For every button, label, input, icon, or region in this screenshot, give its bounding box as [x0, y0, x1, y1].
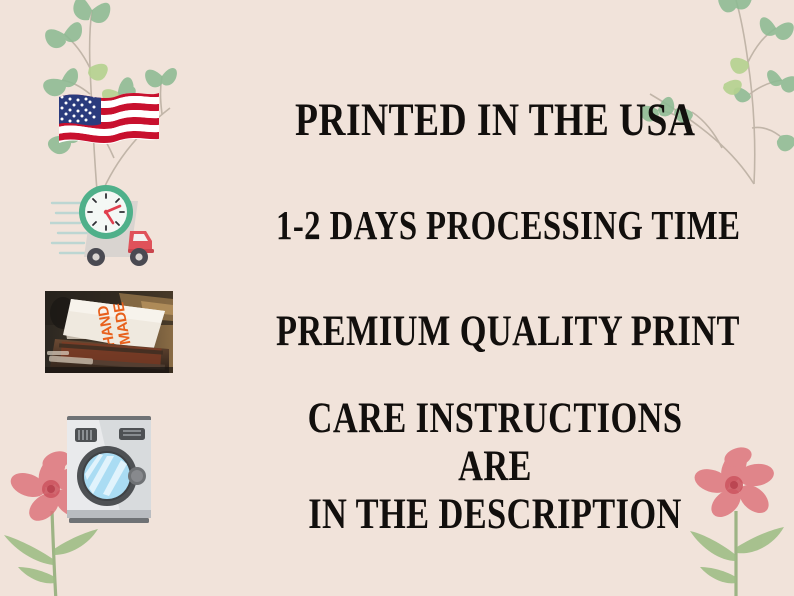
- feature-text-cell: 1-2 DAYS PROCESSING TIME: [218, 203, 794, 249]
- washing-machine-icon: [59, 410, 159, 525]
- promo-graphic-canvas: PRINTED IN THE USA: [0, 0, 794, 596]
- feature-text-cell: PRINTED IN THE USA: [218, 94, 794, 147]
- headline-care-line-1: CARE INSTRUCTIONS ARE: [273, 395, 716, 491]
- feature-text-cell: PREMIUM QUALITY PRINT: [218, 308, 794, 356]
- screen-printing-photo: HAND MADE: [45, 291, 173, 373]
- feature-text-cell: CARE INSTRUCTIONS ARE IN THE DESCRIPTION: [218, 395, 794, 539]
- feature-icon-cell: HAND MADE: [0, 291, 218, 373]
- feature-row-premium-quality: HAND MADE PREMIUM QUALITY PRINT: [0, 282, 794, 382]
- fast-delivery-truck-clock-icon: [50, 179, 168, 273]
- headline-premium-quality-print: PREMIUM QUALITY PRINT: [276, 308, 740, 356]
- headline-care-line-2: IN THE DESCRIPTION: [273, 491, 716, 539]
- feature-row-printed-in-usa: PRINTED IN THE USA: [0, 72, 794, 168]
- headline-care-instructions: CARE INSTRUCTIONS ARE IN THE DESCRIPTION: [273, 395, 716, 539]
- feature-row-processing-time: 1-2 DAYS PROCESSING TIME: [0, 176, 794, 276]
- feature-icon-cell: [0, 410, 218, 525]
- feature-icon-cell: [0, 179, 218, 273]
- headline-processing-time: 1-2 DAYS PROCESSING TIME: [276, 203, 740, 249]
- us-flag-icon: [55, 85, 163, 155]
- feature-icon-cell: [0, 85, 218, 155]
- headline-printed-in-usa: PRINTED IN THE USA: [295, 94, 695, 147]
- feature-row-care-instructions: CARE INSTRUCTIONS ARE IN THE DESCRIPTION: [0, 392, 794, 542]
